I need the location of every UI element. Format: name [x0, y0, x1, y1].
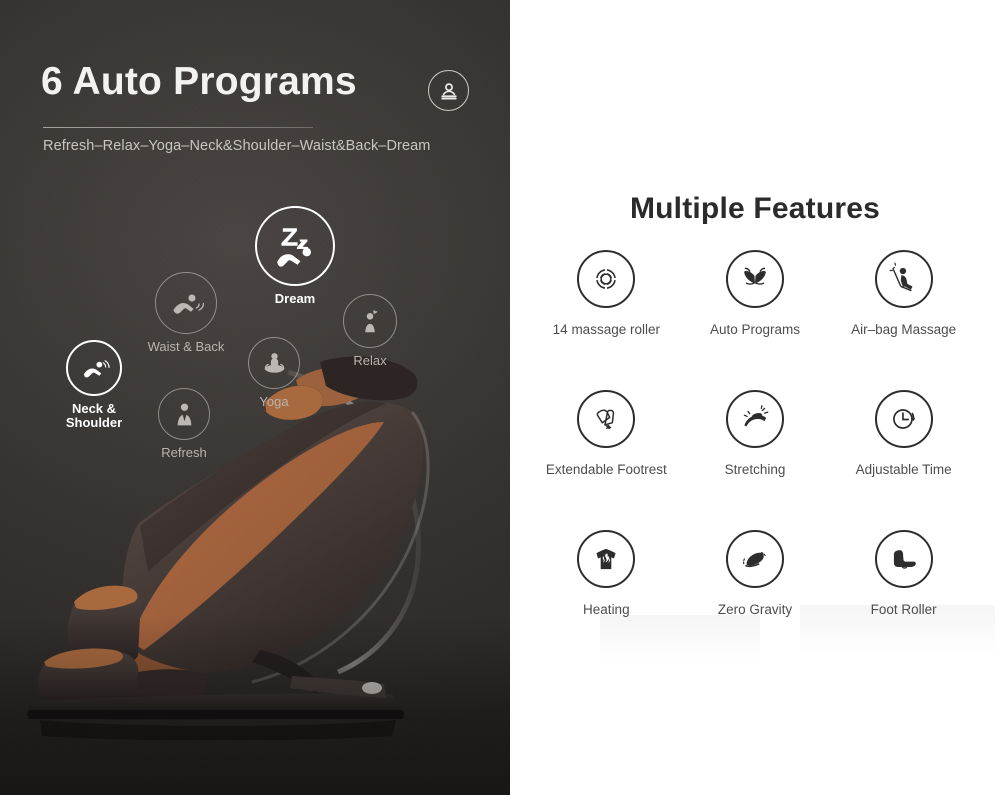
relaxing-person-icon	[343, 294, 397, 348]
person-in-chair-icon	[875, 250, 933, 308]
auto-programs-panel: 6 Auto Programs Refresh–Relax–Yoga–Neck&…	[0, 0, 510, 795]
footrest-extend-icon	[577, 390, 635, 448]
feature-label: Zero Gravity	[718, 602, 792, 617]
programs-subtitle: Refresh–Relax–Yoga–Neck&Shoulder–Waist&B…	[43, 138, 430, 154]
feature-label: Stretching	[725, 462, 786, 477]
feature-item-airbag-massage[interactable]: Air–bag Massage	[829, 250, 978, 337]
program-label: Relax	[353, 354, 386, 368]
feature-label: Air–bag Massage	[851, 322, 956, 337]
feature-label: Extendable Footrest	[546, 462, 667, 477]
program-label: Waist & Back	[148, 340, 225, 354]
clock-arrow-icon	[875, 390, 933, 448]
feature-item-stretching[interactable]: Stretching	[681, 390, 830, 477]
program-label: Neck & Shoulder	[66, 402, 122, 430]
program-item-relax[interactable]: Relax	[313, 294, 427, 368]
program-label: Dream	[275, 292, 315, 306]
reclining-person-neck-icon	[66, 340, 122, 396]
program-label: Refresh	[161, 446, 207, 460]
feature-item-heating[interactable]: Heating	[532, 530, 681, 617]
lotus-pose-icon	[248, 337, 300, 389]
ghost-artifact-left	[600, 615, 760, 660]
stretching-body-icon	[726, 390, 784, 448]
feature-item-auto-programs[interactable]: Auto Programs	[681, 250, 830, 337]
program-label: Yoga	[259, 395, 288, 409]
title-divider	[43, 127, 313, 128]
program-item-refresh[interactable]: Refresh	[128, 388, 240, 460]
multiple-features-panel: Multiple Features 14 massage rollerAuto …	[510, 0, 1000, 795]
feature-item-extendable-footrest[interactable]: Extendable Footrest	[532, 390, 681, 477]
feature-label: Auto Programs	[710, 322, 800, 337]
features-grid: 14 massage rollerAuto ProgramsAir–bag Ma…	[532, 250, 978, 617]
feature-item-zero-gravity[interactable]: Zero Gravity	[681, 530, 830, 617]
feature-item-adjustable-time[interactable]: Adjustable Time	[829, 390, 978, 477]
feature-item-massage-roller[interactable]: 14 massage roller	[532, 250, 681, 337]
foot-roller-icon	[875, 530, 933, 588]
program-item-dream[interactable]: Dream	[225, 206, 365, 306]
feature-label: Adjustable Time	[856, 462, 952, 477]
feature-item-foot-roller[interactable]: Foot Roller	[829, 530, 978, 617]
roller-circles-icon	[577, 250, 635, 308]
product-feature-banner: 6 Auto Programs Refresh–Relax–Yoga–Neck&…	[0, 0, 1000, 795]
feature-label: Heating	[583, 602, 630, 617]
heated-jacket-icon	[577, 530, 635, 588]
two-hands-icon	[726, 250, 784, 308]
reclining-person-waist-icon	[155, 272, 217, 334]
zero-gravity-chair-icon	[726, 530, 784, 588]
person-seated-icon	[428, 70, 469, 111]
page-title: 6 Auto Programs	[41, 60, 357, 104]
sleeping-person-zzz-icon	[255, 206, 335, 286]
feature-label: Foot Roller	[871, 602, 937, 617]
standing-person-tie-icon	[158, 388, 210, 440]
feature-label: 14 massage roller	[553, 322, 660, 337]
features-title: Multiple Features	[510, 192, 1000, 226]
